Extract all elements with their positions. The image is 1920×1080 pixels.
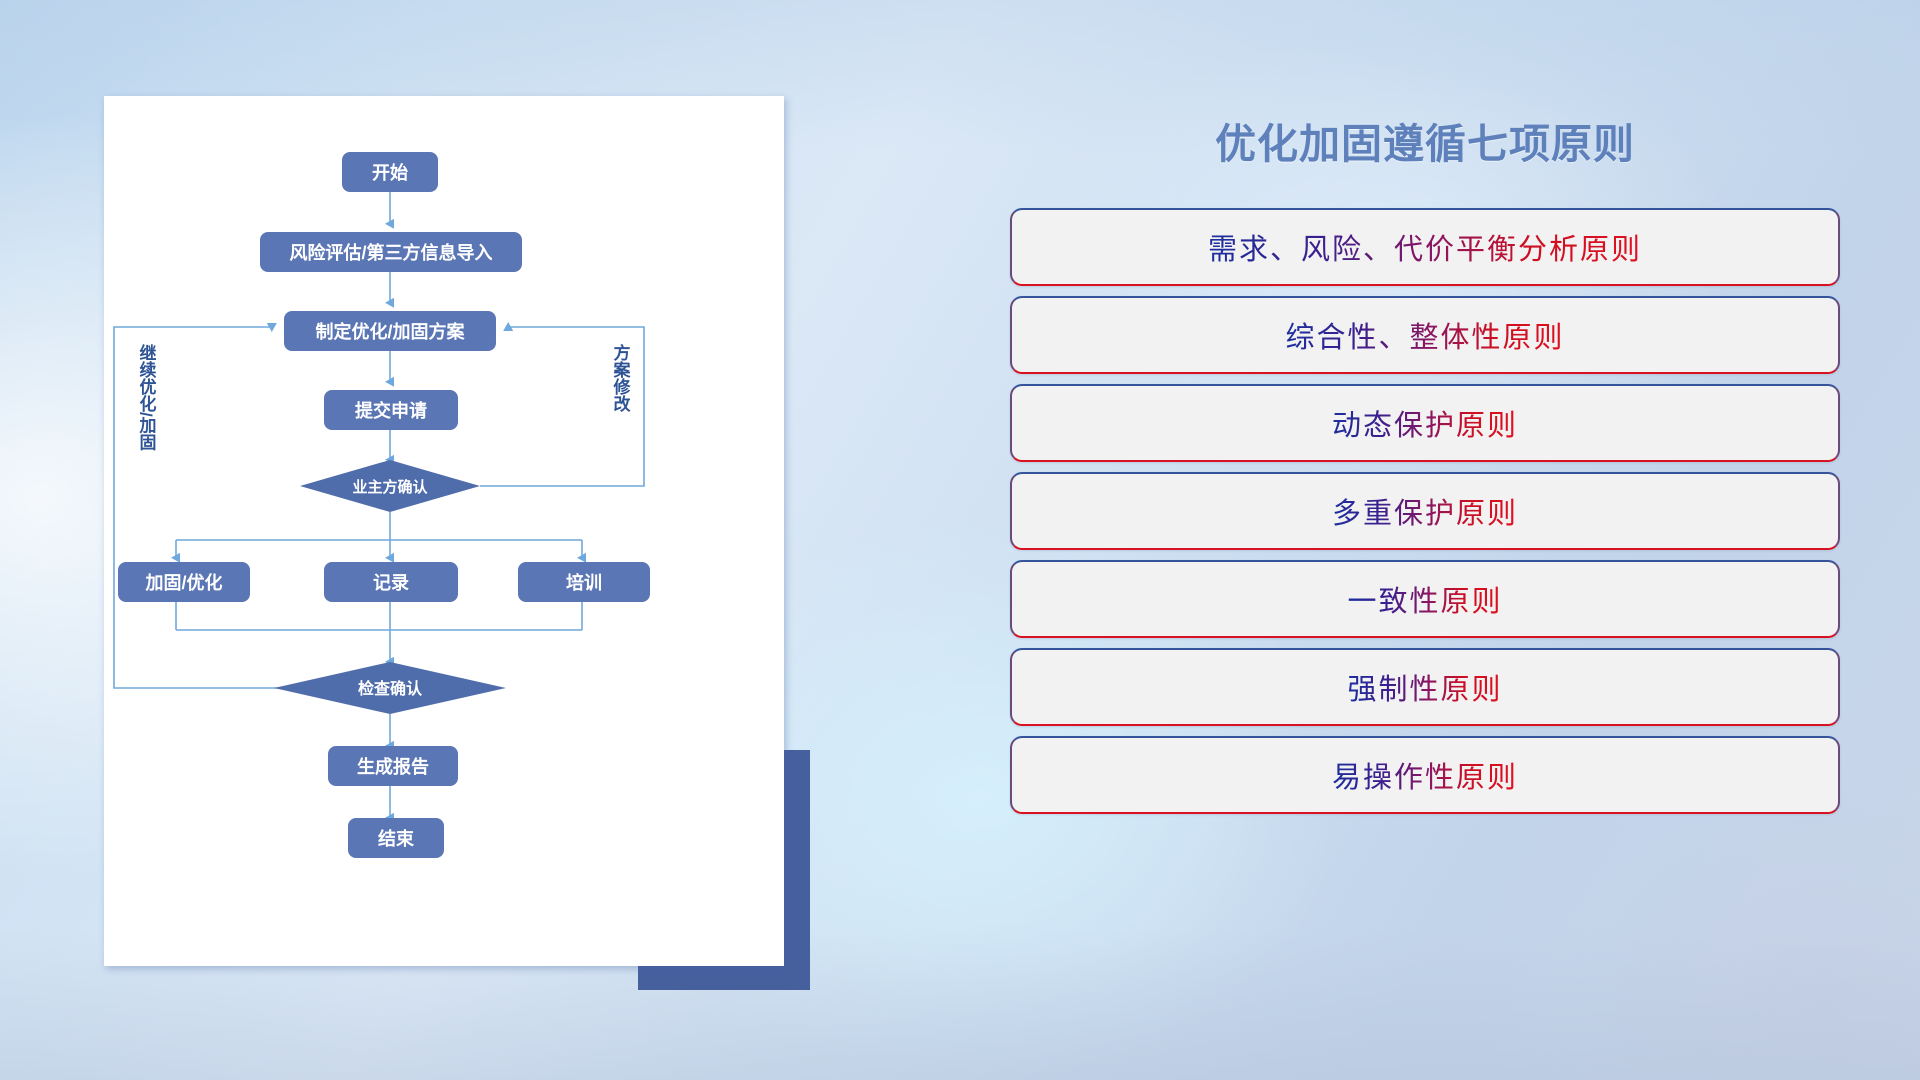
principle-label: 综合性、整体性原则 — [1285, 314, 1564, 356]
flow-node-label: 培训 — [566, 572, 602, 593]
flow-node-label: 提交申请 — [355, 400, 427, 421]
principle-item-5[interactable]: 一致性原则 — [1010, 560, 1840, 638]
flowchart-card: 开始 风险评估/第三方信息导入 制定优化/加固方案 提交申请 业主方确认 加固/… — [104, 96, 784, 966]
flow-node-submit[interactable]: 提交申请 — [324, 390, 458, 430]
flow-edge-label-right-loop: 方案修改 — [611, 343, 632, 413]
flow-node-label: 检查确认 — [358, 679, 423, 698]
flow-node-label: 记录 — [373, 573, 409, 593]
principle-label: 强制性原则 — [1347, 666, 1502, 708]
principle-label: 易操作性原则 — [1332, 754, 1518, 796]
flow-node-owner-confirm[interactable]: 业主方确认 — [300, 460, 480, 512]
flow-node-reinforce[interactable]: 加固/优化 — [118, 562, 250, 602]
flow-node-start[interactable]: 开始 — [342, 152, 438, 192]
flowchart-diagram: 开始 风险评估/第三方信息导入 制定优化/加固方案 提交申请 业主方确认 加固/… — [104, 96, 784, 966]
principle-label: 需求、风险、代价平衡分析原则 — [1208, 226, 1642, 268]
principle-item-2[interactable]: 综合性、整体性原则 — [1010, 296, 1840, 374]
principle-item-4[interactable]: 多重保护原则 — [1010, 472, 1840, 550]
flow-node-label: 生成报告 — [357, 756, 429, 777]
principle-label: 一致性原则 — [1347, 578, 1502, 620]
flow-node-label: 加固/优化 — [144, 572, 222, 593]
flow-node-label: 开始 — [372, 162, 408, 183]
principles-panel: 优化加固遵循七项原则 需求、风险、代价平衡分析原则 综合性、整体性原则 动态保护… — [1010, 96, 1840, 996]
principle-item-6[interactable]: 强制性原则 — [1010, 648, 1840, 726]
flow-node-label: 风险评估/第三方信息导入 — [290, 242, 493, 263]
flow-node-training[interactable]: 培训 — [518, 562, 650, 602]
principle-label: 动态保护原则 — [1332, 402, 1518, 444]
principles-list: 需求、风险、代价平衡分析原则 综合性、整体性原则 动态保护原则 多重保护原则 一… — [1010, 208, 1840, 814]
flow-edge-label-left-loop: 继续优化/加固 — [137, 343, 158, 452]
principle-item-1[interactable]: 需求、风险、代价平衡分析原则 — [1010, 208, 1840, 286]
flow-node-label: 制定优化/加固方案 — [315, 321, 465, 342]
flow-node-record[interactable]: 记录 — [324, 562, 458, 602]
flow-node-label: 业主方确认 — [352, 478, 428, 496]
flow-node-risk-assessment[interactable]: 风险评估/第三方信息导入 — [260, 232, 522, 272]
flow-node-check-confirm[interactable]: 检查确认 — [274, 662, 506, 714]
flow-node-end[interactable]: 结束 — [348, 818, 444, 858]
principle-item-3[interactable]: 动态保护原则 — [1010, 384, 1840, 462]
flow-node-label: 结束 — [378, 828, 415, 849]
principle-label: 多重保护原则 — [1332, 490, 1518, 532]
flow-node-plan[interactable]: 制定优化/加固方案 — [284, 311, 496, 351]
principle-item-7[interactable]: 易操作性原则 — [1010, 736, 1840, 814]
flow-node-report[interactable]: 生成报告 — [328, 746, 458, 786]
page-title: 优化加固遵循七项原则 — [1010, 110, 1840, 170]
